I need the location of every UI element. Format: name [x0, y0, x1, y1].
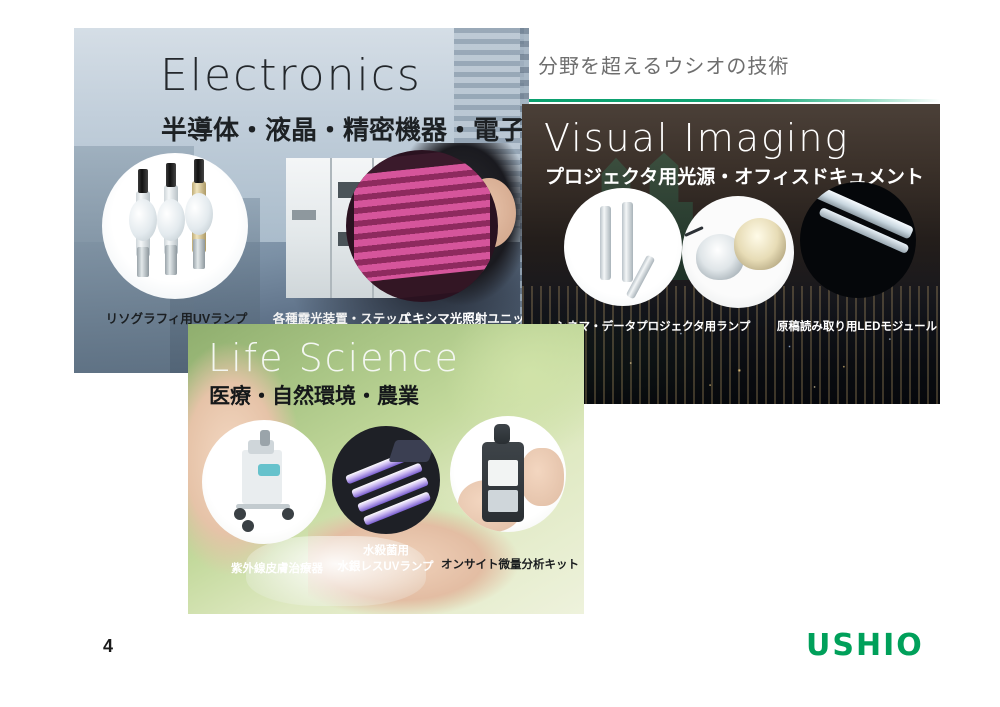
- panel-electronics[interactable]: Electronics 半導体・液晶・精密機器・電子部品: [74, 28, 529, 373]
- lamp-cable: [684, 226, 703, 237]
- life-science-subtitle: 医療・自然環境・農業: [209, 380, 419, 410]
- cart-wheel: [242, 520, 254, 532]
- visual-imaging-title: Visual Imaging: [544, 116, 849, 160]
- slide: 分野を超えるウシオの技術 Electronics 半導体・液晶・精密機器・電子部…: [0, 0, 1000, 707]
- caption-onsite-trace-analysis-kit: オンサイト微量分析キット: [440, 556, 580, 572]
- photo-circle-excimer-unit: [346, 150, 498, 302]
- photo-circle-analysis-kit: [450, 416, 566, 532]
- panel-life-science[interactable]: Life Science 医療・自然環境・農業 紫: [188, 324, 584, 614]
- photo-circle-led-module: [800, 182, 916, 298]
- stepper-seam: [330, 158, 332, 298]
- lamp-cap-icon: [166, 163, 176, 187]
- lamp-cap-icon: [194, 159, 204, 183]
- lamp-bulb: [129, 199, 157, 241]
- photo-circle-uv-lamp: [102, 153, 248, 299]
- cart-wheel: [234, 508, 246, 520]
- lamp-base: [193, 239, 205, 269]
- page-title: 分野を超えるウシオの技術: [538, 50, 789, 79]
- stepper-label: [292, 210, 316, 220]
- cart-base: [236, 504, 290, 509]
- cart-wheel: [282, 508, 294, 520]
- analyzer-keypad: [488, 490, 518, 512]
- uv-lamp-3: [192, 181, 206, 253]
- projector-lamp-1: [600, 206, 611, 280]
- ushio-logo: USHIO: [806, 628, 924, 663]
- photo-circle-phototherapy-device: [202, 420, 326, 544]
- caption-water-sterilization-line1: 水殺菌用: [316, 542, 456, 558]
- page-number: 4: [103, 636, 113, 657]
- cart-body: [242, 450, 282, 504]
- electronics-title: Electronics: [160, 50, 422, 101]
- excimer-lamp-array: [354, 161, 490, 285]
- lamp-bulb: [185, 193, 213, 235]
- photo-circle-reflector-lamps: [682, 196, 794, 308]
- projector-lamp-2: [622, 202, 633, 282]
- lamp-base: [137, 247, 149, 277]
- photo-circle-projector-lamps: [564, 188, 682, 306]
- life-science-title: Life Science: [208, 336, 460, 380]
- cart-display: [258, 464, 280, 476]
- header-divider: [522, 99, 940, 102]
- panel-visual-imaging[interactable]: Visual Imaging プロジェクタ用光源・オフィスドキュメント シネマ・…: [522, 104, 940, 404]
- sterilizer-housing: [388, 440, 435, 462]
- electronics-subtitle: 半導体・液晶・精密機器・電子部品: [161, 110, 529, 147]
- uv-lamp-2: [164, 185, 178, 255]
- photo-circle-uv-sterilizer: [332, 426, 440, 534]
- analyzer-probe: [494, 424, 510, 444]
- reflector-lamp-right: [734, 218, 786, 270]
- analyzer-screen: [488, 460, 518, 486]
- lamp-bulb: [157, 199, 185, 241]
- lamp-cap-icon: [138, 169, 148, 193]
- hand-upper: [520, 448, 564, 506]
- lamp-base: [165, 245, 177, 275]
- cart-arm: [260, 430, 270, 446]
- caption-led-module: 原稿読み取り用LEDモジュール: [762, 318, 940, 334]
- uv-lamp-1: [136, 191, 150, 257]
